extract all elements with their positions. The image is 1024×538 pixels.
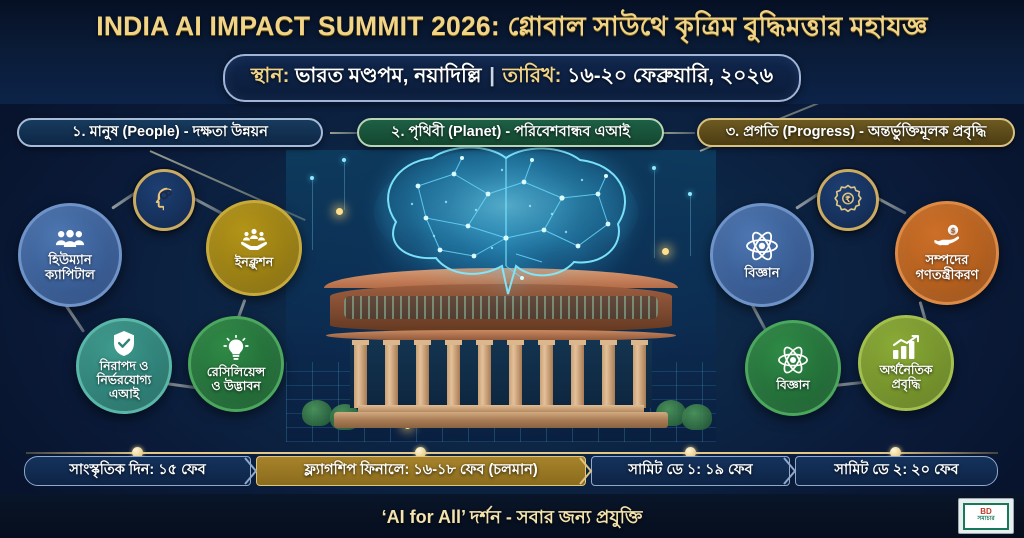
pillar-banner-people[interactable]: ১. মানুষ (People) - দক্ষতা উন্নয়ন [17,118,323,147]
footer-bar: ‘AI for All’ দর্শন - সবার জন্য প্রযুক্তি… [0,494,1024,538]
node-label-line2: গণতন্ত্রীকরণ [911,268,984,283]
circuit-line [312,180,313,250]
column [354,340,367,408]
connector-planet-left [330,132,360,134]
bar-chart-growth-icon [891,335,921,361]
node-safe-trustworthy-ai[interactable]: নিরাপদ ও নির্ভরযোগ্য এআই [76,318,172,414]
atom-icon [745,229,779,263]
street-lamp-light [662,248,669,255]
node-economic-growth[interactable]: অর্থনৈতিক প্রবৃদ্ধি [858,315,954,411]
atom-icon [777,344,809,376]
people-group-icon [55,228,85,250]
node-light [310,176,314,180]
subtitle-separator: | [487,64,497,87]
timeline-chip-cultural-day[interactable]: সাংস্কৃতিক দিন: ১৫ ফেব [24,456,251,486]
infographic-canvas: INDIA AI IMPACT SUMMIT 2026: গ্লোবাল সাউ… [0,0,1024,538]
node-resilience-innovation[interactable]: রেসিলিয়েন্স ও উদ্ভাবন [188,316,284,412]
date-value: ১৬-২০ ফেব্রুয়ারি, ২০২৬ [567,64,773,87]
link-line [65,305,85,333]
date-label: তারিখ: [503,64,562,87]
page-title: INDIA AI IMPACT SUMMIT 2026: গ্লোবাল সাউ… [0,7,1024,51]
column [447,340,460,408]
subtitle-wrap: স্থান: ভারত মণ্ডপম, নয়াদিল্লি | তারিখ: … [0,54,1024,102]
footer-tagline: ‘AI for All’ দর্শন - সবার জন্য প্রযুক্তি [0,503,1024,534]
column [416,340,429,408]
venue-date-bar: স্থান: ভারত মণ্ডপম, নয়াদিল্লি | তারিখ: … [223,54,801,102]
node-label-line1: ইনক্লুশন [230,256,278,270]
svg-text:$: $ [951,227,956,235]
pillar-banner-planet[interactable]: ২. পৃথিবী (Planet) - পরিবেশবান্ধব এআই [357,118,664,147]
node-label-line2: ক্যাপিটাল [40,268,100,283]
node-label-line1: হিউম্যান [43,253,96,268]
digital-brain-icon [356,146,656,296]
node-science-blue[interactable]: বিজ্ঞান [710,203,814,307]
connector-planet-right [662,132,695,134]
timeline-arrow [579,456,593,486]
rupee-gear-icon: ₹ [832,183,864,215]
node-label-line1: অর্থনৈতিক [875,364,938,378]
link-line [875,196,906,215]
column [540,340,553,408]
timeline-arrow [783,456,797,486]
venue-label: স্থান: [251,64,290,87]
node-label-line1: সম্পদের [921,253,974,268]
column [385,340,398,408]
watermark-inner: BD সমাচার [963,503,1009,530]
node-label-line1: বিজ্ঞান [771,379,814,393]
pillar-banner-progress[interactable]: ৩. প্রগতি (Progress) - অন্তর্ভুক্তিমূলক … [697,118,1015,147]
timeline-arrow [244,456,258,486]
timeline-axis [26,452,998,454]
timeline-chip-flagship-finale[interactable]: ফ্ল্যাগশিপ ফিনালে: ১৬-১৮ ফেব (চলমান) [256,456,586,486]
watermark-line2: সমাচার [977,516,994,523]
building-steps [334,412,668,428]
node-head-gears[interactable] [133,169,195,231]
watermark-logo: BD সমাচার [958,498,1014,534]
column [633,340,646,408]
hands-holding-people-icon [239,227,269,253]
lightbulb-icon [223,335,249,363]
tree-decoration [682,404,712,430]
street-lamp-light [336,208,343,215]
column [602,340,615,408]
timeline-chip-summit-day-2[interactable]: সামিট ডে ২: ২০ ফেব [795,456,998,486]
column [478,340,491,408]
node-human-capital[interactable]: হিউম্যান ক্যাপিটাল [18,203,122,307]
column [571,340,584,408]
venue-value: ভারত মণ্ডপম, নয়াদিল্লি [295,64,481,87]
center-illustration [286,150,716,442]
column [509,340,522,408]
node-label-line1: নিরাপদ ও [95,360,154,374]
node-label-line3: এআই [104,388,144,402]
link-line [191,196,222,215]
node-label-line2: নির্ভরযোগ্য [92,374,156,388]
head-gears-icon [149,184,179,214]
svg-text:₹: ₹ [845,195,851,205]
node-label-line1: রেসিলিয়েন্স [202,366,270,380]
node-light [688,192,692,196]
node-rupee-gear[interactable]: ₹ [817,169,879,231]
hand-coin-icon: $ [931,224,963,250]
node-light [342,158,346,162]
circuit-line [344,162,345,210]
circuit-line [690,196,691,256]
timeline-chip-summit-day-1[interactable]: সামিট ডে ১: ১৯ ফেব [591,456,790,486]
node-label-line1: বিজ্ঞান [740,266,785,281]
node-label-line2: প্রবৃদ্ধি [887,378,926,392]
header-banner: INDIA AI IMPACT SUMMIT 2026: গ্লোবাল সাউ… [0,0,1024,104]
node-science-green[interactable]: বিজ্ঞান [745,320,841,416]
building-colonnade [350,340,652,408]
node-wealth-democratization[interactable]: $ সম্পদের গণতন্ত্রীকরণ [895,201,999,305]
shield-check-icon [112,330,136,357]
node-inclusion[interactable]: ইনক্লুশন [206,200,302,296]
node-label-line2: ও উদ্ভাবন [206,380,265,394]
